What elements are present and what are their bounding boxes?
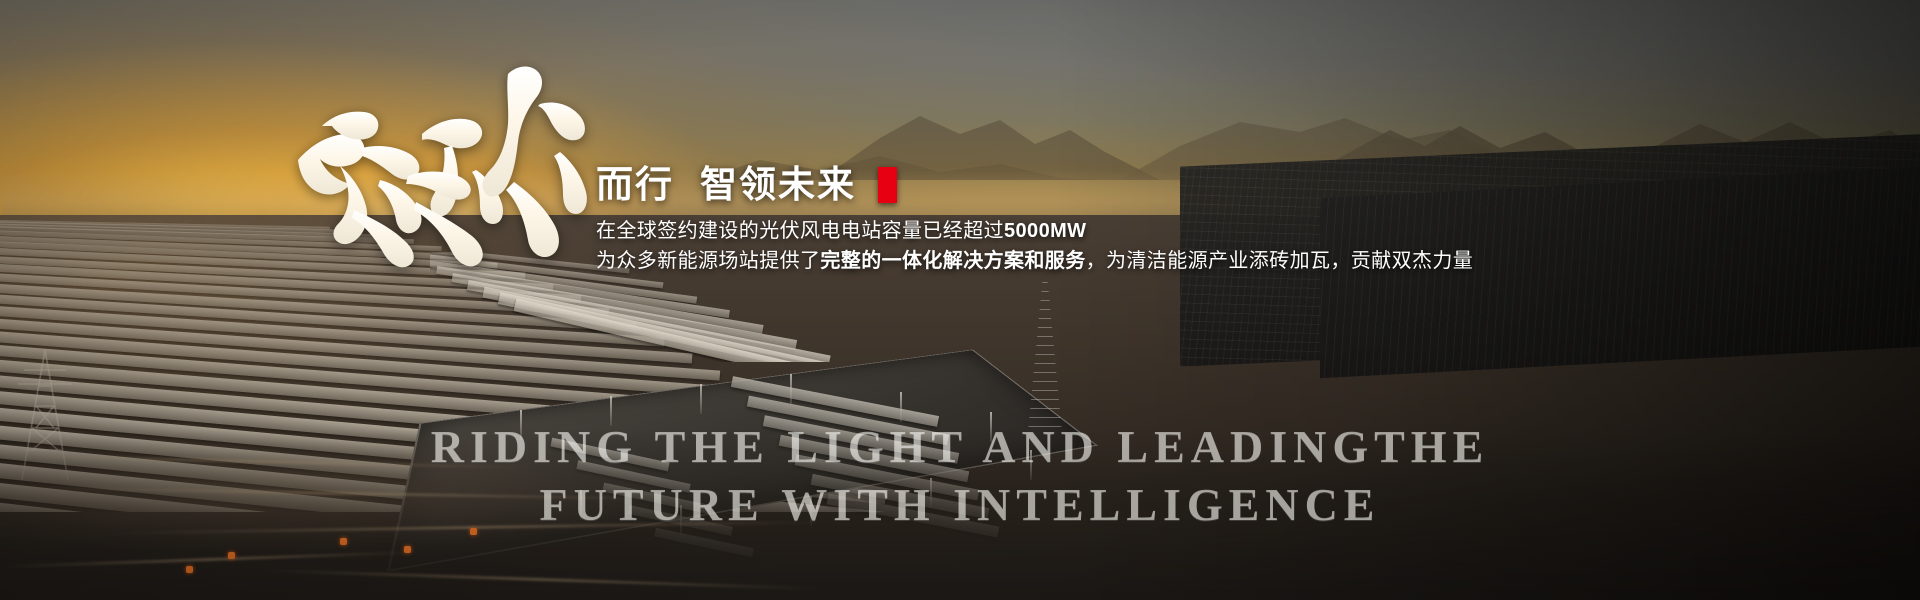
foreground-dirt: [0, 430, 1920, 600]
subtitle-block: 在全球签约建设的光伏风电电站容量已经超过5000MW 为众多新能源场站提供了完整…: [596, 216, 1473, 277]
subtitle-line-2-text-b: ，为清洁能源产业添砖加瓦，贡献双杰力量: [1086, 250, 1474, 272]
transmission-tower-icon: [1028, 282, 1062, 432]
subtitle-line-1: 在全球签约建设的光伏风电电站容量已经超过5000MW: [596, 216, 1473, 246]
headline: 而行 智领未来: [596, 166, 1473, 203]
subtitle-line-1-text: 在全球签约建设的光伏风电电站容量已经超过: [596, 220, 1004, 242]
hero-copy: 而行 智领未来 在全球签约建设的光伏风电电站容量已经超过5000MW 为众多新能…: [596, 166, 1473, 277]
subtitle-line-2-highlight: 完整的一体化解决方案和服务: [820, 250, 1085, 272]
headline-part-1: 而行: [596, 166, 674, 203]
subtitle-line-2-text-a: 为众多新能源场站提供了: [596, 250, 820, 272]
subtitle-line-2: 为众多新能源场站提供了完整的一体化解决方案和服务，为清洁能源产业添砖加瓦，贡献双…: [596, 246, 1473, 276]
headline-part-2: 智领未来: [700, 166, 856, 203]
red-accent-block: [878, 167, 897, 203]
subtitle-line-1-capacity: 5000MW: [1004, 220, 1086, 242]
hero-banner: 而行 智领未来 在全球签约建设的光伏风电电站容量已经超过5000MW 为众多新能…: [0, 0, 1920, 600]
